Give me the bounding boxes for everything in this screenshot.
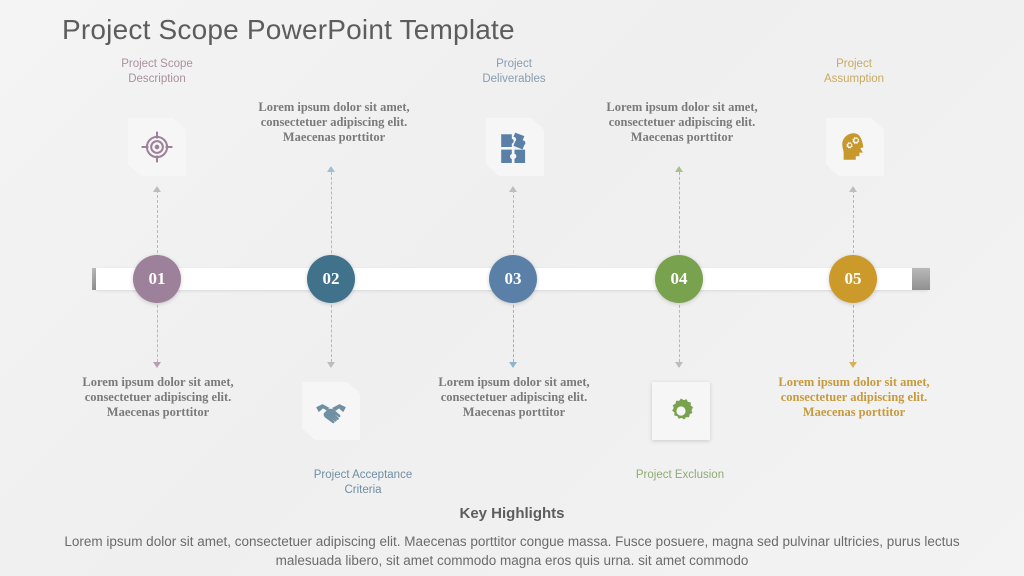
connector-arrow-03 (509, 186, 517, 192)
connector-arrow-01 (153, 186, 161, 192)
category-label-02: Project Acceptance Criteria (277, 468, 449, 498)
category-label-02-line2: Criteria (277, 483, 449, 498)
connector-arrow-02-up (327, 166, 335, 172)
key-highlights-text: Lorem ipsum dolor sit amet, consectetuer… (50, 532, 974, 570)
milestone-number-03: 03 (505, 269, 522, 289)
connector-02 (331, 300, 332, 362)
category-label-01-line2: Description (92, 72, 222, 87)
milestone-node-03[interactable]: 03 (489, 255, 537, 303)
milestone-number-02: 02 (323, 269, 340, 289)
slide-canvas: Project Scope PowerPoint Template 01 02 … (0, 0, 1024, 576)
icon-card-01[interactable] (128, 118, 186, 176)
connector-01-down (157, 300, 158, 362)
connector-05-down (853, 300, 854, 362)
connector-01 (157, 190, 158, 258)
category-label-05: Project Assumption (790, 57, 918, 87)
connector-04-up (679, 172, 680, 258)
milestone-number-01: 01 (149, 269, 166, 289)
handshake-icon (314, 394, 348, 428)
connector-02-up (331, 172, 332, 258)
category-label-02-line1: Project Acceptance (277, 468, 449, 483)
category-label-01-line1: Project Scope (92, 57, 222, 72)
category-label-05-line2: Assumption (790, 72, 918, 87)
milestone-number-05: 05 (845, 269, 862, 289)
category-label-03-line2: Deliverables (450, 72, 578, 87)
connector-03-down (513, 300, 514, 362)
connector-arrow-05 (849, 186, 857, 192)
description-text-02: Lorem ipsum dolor sit amet, consectetuer… (238, 100, 430, 145)
key-highlights-heading: Key Highlights (0, 505, 1024, 522)
milestone-node-04[interactable]: 04 (655, 255, 703, 303)
icon-card-05[interactable] (826, 118, 884, 176)
milestone-node-01[interactable]: 01 (133, 255, 181, 303)
puzzle-icon (498, 130, 532, 164)
milestone-number-04: 04 (671, 269, 688, 289)
connector-arrow-04-up (675, 166, 683, 172)
connector-arrow-04 (675, 362, 683, 368)
icon-card-04[interactable] (652, 382, 710, 440)
category-label-05-line1: Project (790, 57, 918, 72)
category-label-04-line1: Project Exclusion (604, 468, 756, 483)
connector-arrow-02 (327, 362, 335, 368)
icon-card-03[interactable] (486, 118, 544, 176)
gear-icon (665, 395, 697, 427)
description-text-05: Lorem ipsum dolor sit amet, consectetuer… (758, 375, 950, 420)
head-gears-icon (838, 130, 872, 164)
connector-04 (679, 300, 680, 362)
category-label-04: Project Exclusion (604, 468, 756, 483)
icon-card-02[interactable] (302, 382, 360, 440)
connector-arrow-01-down (153, 362, 161, 368)
milestone-node-05[interactable]: 05 (829, 255, 877, 303)
page-title: Project Scope PowerPoint Template (62, 14, 515, 46)
target-icon (140, 130, 174, 164)
description-text-04: Lorem ipsum dolor sit amet, consectetuer… (586, 100, 778, 145)
connector-arrow-05-down (849, 362, 857, 368)
connector-arrow-03-down (509, 362, 517, 368)
milestone-node-02[interactable]: 02 (307, 255, 355, 303)
category-label-03-line1: Project (450, 57, 578, 72)
connector-03 (513, 190, 514, 258)
description-text-03: Lorem ipsum dolor sit amet, consectetuer… (418, 375, 610, 420)
description-text-01: Lorem ipsum dolor sit amet, consectetuer… (62, 375, 254, 420)
timeline-cap-right (912, 268, 930, 290)
category-label-01: Project Scope Description (92, 57, 222, 87)
category-label-03: Project Deliverables (450, 57, 578, 87)
connector-05 (853, 190, 854, 258)
